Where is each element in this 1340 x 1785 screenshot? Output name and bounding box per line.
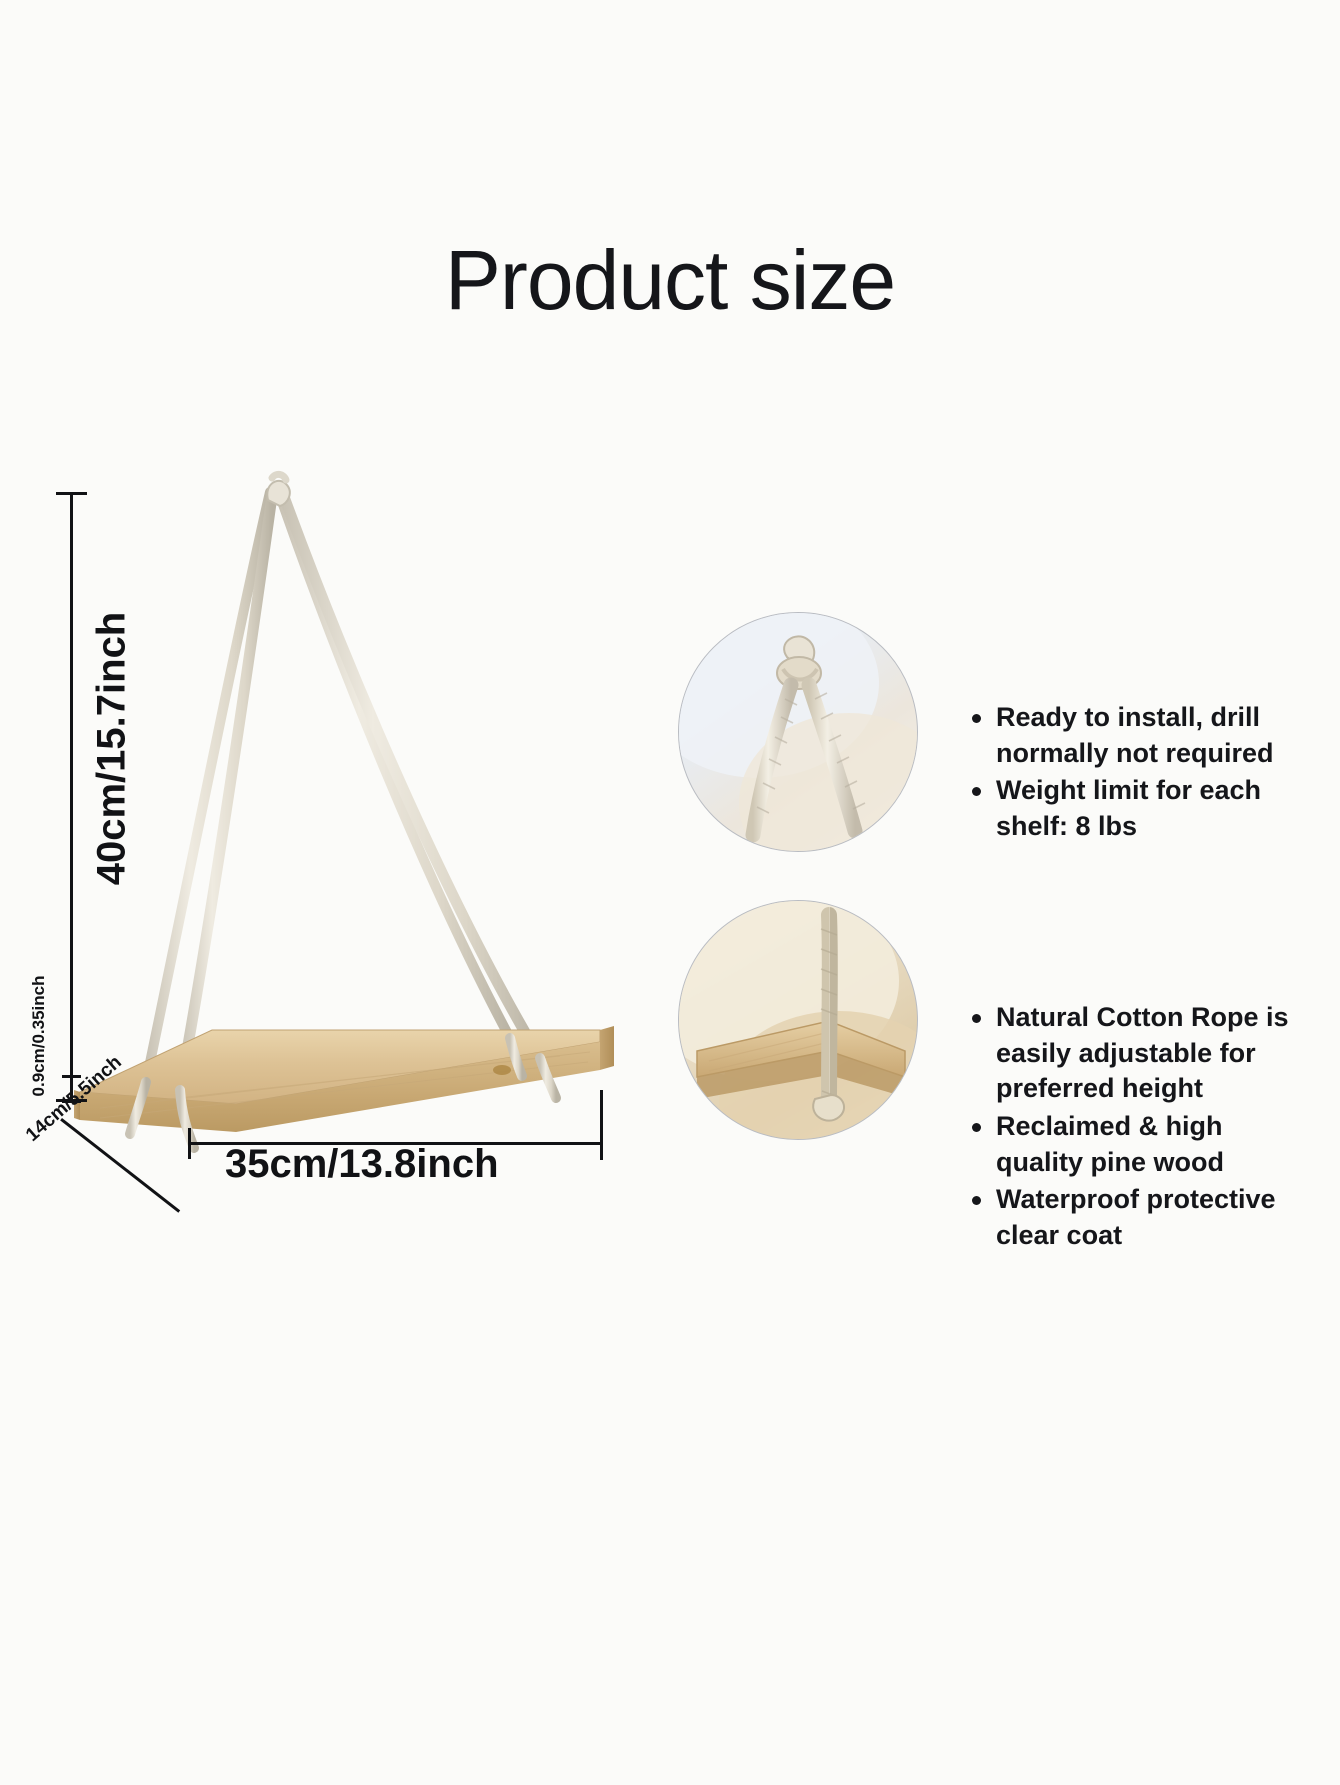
- list-item: Waterproof protective clear coat: [968, 1182, 1308, 1253]
- list-item: Natural Cotton Rope is easily adjustable…: [968, 1000, 1308, 1107]
- list-item: Weight limit for each shelf: 8 lbs: [968, 773, 1298, 844]
- thickness-dimension-tick-top: [62, 1075, 81, 1078]
- list-item: Reclaimed & high quality pine wood: [968, 1109, 1308, 1180]
- rope-top-knot: [267, 474, 289, 506]
- height-dimension-tick-top: [56, 492, 87, 495]
- page-title: Product size: [0, 238, 1340, 322]
- feature-list-installation: Ready to install, drill normally not req…: [968, 700, 1298, 847]
- list-item: Ready to install, drill normally not req…: [968, 700, 1298, 771]
- width-dimension-label: 35cm/13.8inch: [225, 1142, 499, 1187]
- width-dimension-tick-right: [600, 1090, 603, 1160]
- rope-knot-closeup-image: [678, 612, 918, 852]
- height-dimension-label: 40cm/15.7inch: [90, 599, 135, 899]
- thickness-dimension-label: 0.9cm/0.35inch: [29, 941, 49, 1131]
- product-size-infographic: Product size: [0, 0, 1340, 1785]
- under-board-knot: [813, 1095, 844, 1121]
- feature-list-materials: Natural Cotton Rope is easily adjustable…: [968, 1000, 1308, 1255]
- product-illustration: 40cm/15.7inch 0.9cm/0.35inch 14cm/5.5inc…: [40, 470, 660, 1230]
- width-dimension-tick-left: [188, 1128, 191, 1159]
- height-dimension-line: [70, 492, 73, 1102]
- rope-shelf-joint-closeup-image: [678, 900, 918, 1140]
